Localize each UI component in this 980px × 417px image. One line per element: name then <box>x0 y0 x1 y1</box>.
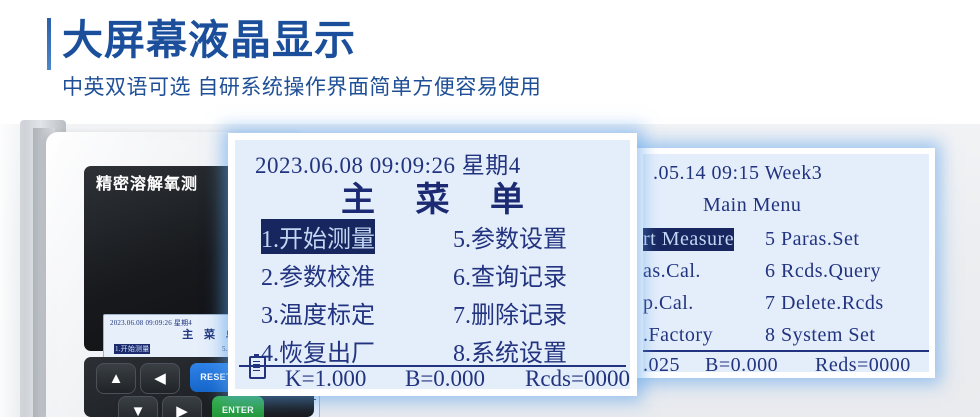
en-footer-rcds: Reds=0000 <box>815 354 911 372</box>
en-menu-item-4[interactable]: .Factory <box>643 324 713 347</box>
cn-menu-item-1[interactable]: 1.开始测量 <box>261 219 375 254</box>
en-footer-b: B=0.000 <box>705 354 778 372</box>
en-menu-item-1[interactable]: rt Measure <box>643 228 734 251</box>
english-lcd-screen: .05.14 09:15 Week3 Main Menu rt Measure … <box>643 154 929 372</box>
en-status-line: .05.14 09:15 Week3 <box>653 162 822 185</box>
battery-icon <box>249 356 266 379</box>
right-arrow-button[interactable]: ▶ <box>162 396 202 417</box>
photo-left-fade <box>0 118 25 417</box>
cn-menu-item-3[interactable]: 3.温度标定 <box>261 295 375 330</box>
en-menu-item-3[interactable]: p.Cal. <box>643 292 694 315</box>
mini-lcd-item-1: 1.开始测量 <box>114 344 150 354</box>
chinese-lcd-callout: 2023.06.08 09:09:26 星期4 主 菜 单 1.开始测量 2.参… <box>228 133 637 396</box>
en-menu-item-2[interactable]: as.Cal. <box>643 260 701 283</box>
en-menu-item-8[interactable]: 8 System Set <box>765 324 875 347</box>
cn-menu-item-8[interactable]: 8.系统设置 <box>453 333 567 368</box>
cn-footer-rcds: Rcds=0000 <box>525 366 630 389</box>
cn-footer-k: K=1.000 <box>285 366 366 389</box>
down-arrow-button[interactable]: ▼ <box>118 396 158 417</box>
cn-menu-item-6[interactable]: 6.查询记录 <box>453 257 567 292</box>
left-arrow-button[interactable]: ◀ <box>140 363 180 394</box>
en-menu-item-7[interactable]: 7 Delete.Rcds <box>765 292 884 315</box>
enter-button[interactable]: ENTER <box>212 396 264 417</box>
en-screen-title: Main Menu <box>703 194 801 217</box>
en-menu-item-5[interactable]: 5 Paras.Set <box>765 228 859 251</box>
english-lcd-callout: .05.14 09:15 Week3 Main Menu rt Measure … <box>637 148 935 378</box>
cn-menu-item-5[interactable]: 5.参数设置 <box>453 219 567 254</box>
cn-menu-item-7[interactable]: 7.删除记录 <box>453 295 567 330</box>
up-arrow-button[interactable]: ▲ <box>96 363 136 394</box>
cn-footer-b: B=0.000 <box>405 366 485 389</box>
page-root: 大屏幕液晶显示 中英双语可选 自研系统操作界面简单方便容易使用 精密溶解氧测 2… <box>0 0 980 417</box>
chinese-lcd-screen: 2023.06.08 09:09:26 星期4 主 菜 单 1.开始测量 2.参… <box>235 140 630 389</box>
accent-bar <box>47 18 51 70</box>
cn-menu-item-2[interactable]: 2.参数校准 <box>261 257 375 292</box>
en-footer-k: .025 <box>643 354 680 372</box>
page-subtitle: 中英双语可选 自研系统操作界面简单方便容易使用 <box>62 74 541 102</box>
cn-menu-item-4[interactable]: 4.恢复出厂 <box>261 333 375 368</box>
header-banner: 大屏幕液晶显示 中英双语可选 自研系统操作界面简单方便容易使用 <box>0 0 980 118</box>
page-title: 大屏幕液晶显示 <box>62 12 356 68</box>
en-menu-item-6[interactable]: 6 Rcds.Query <box>765 260 881 283</box>
photo-top-fade <box>0 118 980 124</box>
en-footer-divider <box>643 350 929 352</box>
cn-screen-title: 主 菜 单 <box>235 172 630 221</box>
